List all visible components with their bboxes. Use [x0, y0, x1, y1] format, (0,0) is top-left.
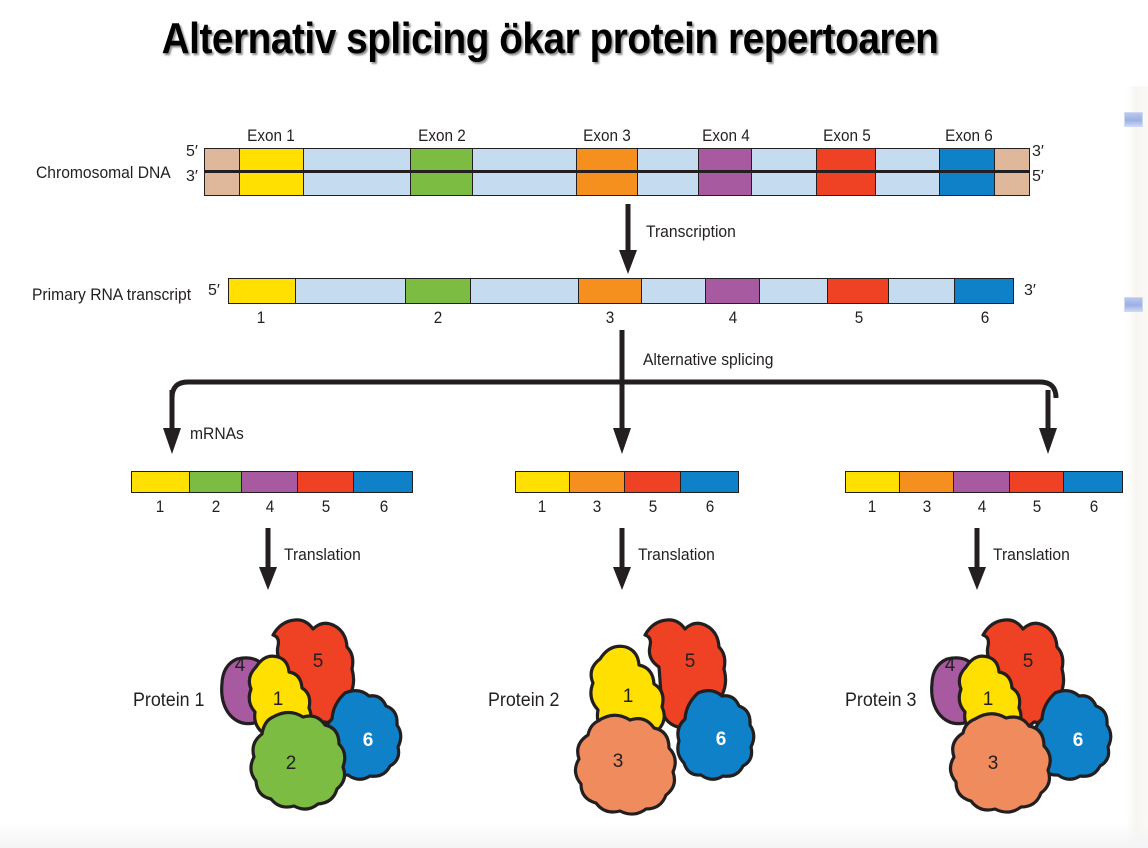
rna-exon-number-6: 6	[963, 308, 1008, 328]
mrna-bar-2-exon-1	[516, 472, 570, 492]
mrna-bar-2-exon-3	[570, 472, 624, 492]
dna-exon-label-1: Exon 1	[231, 126, 312, 146]
mrna-bar-1-exon-4	[242, 472, 298, 492]
mrna-bar-3-exon-5	[1010, 472, 1064, 492]
primary-rna-transcript-bar-exon-1	[229, 279, 296, 303]
rna-exon-number-5: 5	[837, 308, 882, 328]
mrna-3-number-3: 3	[904, 497, 949, 517]
dna-left-prime-bottom: 3′	[186, 168, 198, 186]
rna-left-prime: 5′	[208, 282, 220, 300]
mrna-2-number-1: 1	[520, 497, 565, 517]
dna-strand-top-intron-5	[876, 149, 940, 171]
protein-3-blob-3	[950, 714, 1050, 812]
mrna-bar-1-exon-5	[298, 472, 354, 492]
mrna-3-number-4: 4	[959, 497, 1004, 517]
mrna-2-number-6: 6	[688, 497, 733, 517]
dna-exon-label-4: Exon 4	[685, 126, 766, 146]
mrna-bar-2-exon-5	[625, 472, 682, 492]
dna-left-prime-top: 5′	[186, 143, 198, 161]
mrna-3-number-1: 1	[850, 497, 895, 517]
slide-canvas: Alternativ splicing ökar protein reperto…	[0, 0, 1148, 848]
protein-2-num-3: 3	[613, 751, 624, 772]
primary-rna-transcript-label: Primary RNA transcript	[32, 285, 191, 305]
mrna-2-number-3: 3	[575, 497, 620, 517]
right-panel-edge	[1126, 86, 1148, 848]
dna-strand-bottom-exon-3	[577, 173, 638, 195]
dna-strand-top	[204, 148, 1030, 172]
protein-1-num-1: 1	[273, 689, 284, 710]
dna-strand-bottom-exon-2	[411, 173, 474, 195]
mrna-bar-3-exon-3	[900, 472, 954, 492]
protein-3-structure: 4 5 1 6 3	[905, 605, 1135, 820]
dna-strand-bottom-intron-1	[304, 173, 410, 195]
dna-strand-bottom-exon-4	[699, 173, 752, 195]
protein-3-num-6: 6	[1073, 730, 1084, 751]
bottom-edge-shade	[0, 822, 1148, 848]
protein-1-num-4: 4	[235, 655, 246, 676]
dna-strand-top-exon-3	[577, 149, 638, 171]
dna-strand-bottom	[204, 172, 1030, 196]
panel-marker-top-icon[interactable]	[1124, 112, 1143, 127]
translation-label-2: Translation	[638, 545, 715, 565]
primary-rna-transcript-bar-exon-5	[828, 279, 889, 303]
dna-strand-bottom-exon-1	[240, 173, 304, 195]
mrna-bar-3-exon-4	[954, 472, 1010, 492]
transcription-label: Transcription	[646, 222, 736, 242]
dna-exon-label-6: Exon 6	[928, 126, 1009, 146]
primary-rna-transcript-bar	[228, 278, 1014, 304]
mrna-bar-2-exon-6	[681, 472, 738, 492]
protein-1-num-6: 6	[363, 730, 374, 751]
mrna-1-number-1: 1	[138, 497, 183, 517]
mrna-bar-3-exon-6	[1064, 472, 1122, 492]
mrnas-label: mRNAs	[190, 424, 244, 444]
protein-1-structure: 4 5 1 6 2	[195, 605, 425, 820]
dna-strand-bottom-exon-5	[817, 173, 875, 195]
primary-rna-transcript-bar-exon-3	[579, 279, 643, 303]
primary-rna-transcript-bar-exon-2	[406, 279, 471, 303]
protein-2-num-6: 6	[716, 729, 727, 750]
rna-right-prime: 3′	[1024, 282, 1036, 300]
dna-right-prime-bottom: 5′	[1032, 168, 1044, 186]
dna-strand-bottom-intron-2	[473, 173, 577, 195]
protein-2-label: Protein 2	[488, 690, 559, 712]
dna-strand-top-exon-2	[411, 149, 474, 171]
mrna-3-number-6: 6	[1071, 497, 1116, 517]
mrna-bar-1	[131, 471, 413, 493]
alternative-splicing-branch-arrows	[160, 330, 1040, 460]
rna-exon-number-3: 3	[588, 308, 633, 328]
chromosomal-dna-label: Chromosomal DNA	[36, 163, 171, 183]
mrna-bar-2	[515, 471, 739, 493]
dna-strand-top-intron-4	[752, 149, 818, 171]
mrna-1-number-2: 2	[193, 497, 238, 517]
dna-strand-top-intron-3	[638, 149, 699, 171]
mrna-bar-1-exon-1	[132, 472, 190, 492]
alternative-splicing-label: Alternative splicing	[643, 350, 773, 370]
protein-3-num-5: 5	[1023, 651, 1034, 672]
primary-rna-transcript-bar-intron-5	[889, 279, 956, 303]
protein-2-structure: 5 1 6 3	[550, 605, 780, 820]
mrna-bar-3	[845, 471, 1123, 493]
dna-strand-bottom-intron-3	[638, 173, 699, 195]
dna-strand-bottom-exon-6	[940, 173, 995, 195]
dna-strand-top-intron-1	[304, 149, 410, 171]
translation-arrow-1	[258, 528, 284, 592]
dna-strand-top-intron-2	[473, 149, 577, 171]
protein-1-num-5: 5	[313, 651, 324, 672]
protein-3-num-1: 1	[983, 689, 994, 710]
panel-marker-bottom-icon[interactable]	[1124, 297, 1143, 312]
mrna-2-number-5: 5	[631, 497, 676, 517]
primary-rna-transcript-bar-intron-3	[642, 279, 706, 303]
rna-exon-number-4: 4	[711, 308, 756, 328]
dna-strand-bottom-intron-4	[752, 173, 818, 195]
dna-strand-bottom-utr-right	[995, 173, 1029, 195]
mrna-bar-1-exon-2	[190, 472, 242, 492]
dna-strand-bottom-intron-5	[876, 173, 940, 195]
mrna-3-number-5: 5	[1015, 497, 1060, 517]
protein-1-blob-2	[251, 713, 345, 810]
translation-label-1: Translation	[284, 545, 361, 565]
dna-strand-top-utr-right	[995, 149, 1029, 171]
protein-3-num-3: 3	[988, 753, 999, 774]
mrna-1-number-4: 4	[247, 497, 292, 517]
primary-rna-transcript-bar-intron-4	[760, 279, 828, 303]
protein-2-blob-3	[575, 715, 675, 814]
protein-3-num-4: 4	[945, 655, 956, 676]
protein-1-num-2: 2	[286, 753, 297, 774]
mrna-bar-3-exon-1	[846, 472, 900, 492]
translation-arrow-3	[967, 528, 993, 592]
translation-label-3: Translation	[993, 545, 1070, 565]
rna-exon-number-1: 1	[239, 308, 284, 328]
protein-1-label: Protein 1	[133, 690, 204, 712]
transcription-arrow	[618, 204, 644, 276]
dna-exon-label-5: Exon 5	[807, 126, 888, 146]
mrna-1-number-5: 5	[304, 497, 349, 517]
primary-rna-transcript-bar-intron-2	[471, 279, 578, 303]
primary-rna-transcript-bar-intron-1	[296, 279, 406, 303]
dna-exon-label-3: Exon 3	[567, 126, 648, 146]
dna-strand-top-exon-5	[817, 149, 875, 171]
protein-2-num-5: 5	[685, 651, 696, 672]
protein-2-num-1: 1	[623, 686, 634, 707]
primary-rna-transcript-bar-exon-4	[706, 279, 760, 303]
mrna-1-number-6: 6	[361, 497, 406, 517]
dna-strand-top-exon-4	[699, 149, 752, 171]
dna-strand-top-exon-1	[240, 149, 304, 171]
dna-strand-bottom-utr-left	[205, 173, 240, 195]
dna-exon-label-2: Exon 2	[401, 126, 482, 146]
dna-strand-top-utr-left	[205, 149, 240, 171]
dna-strand-top-exon-6	[940, 149, 995, 171]
mrna-bar-1-exon-6	[354, 472, 412, 492]
rna-exon-number-2: 2	[416, 308, 461, 328]
page-title: Alternativ splicing ökar protein reperto…	[66, 14, 1034, 64]
translation-arrow-2	[612, 528, 638, 592]
dna-right-prime-top: 3′	[1032, 143, 1044, 161]
primary-rna-transcript-bar-exon-6	[955, 279, 1013, 303]
